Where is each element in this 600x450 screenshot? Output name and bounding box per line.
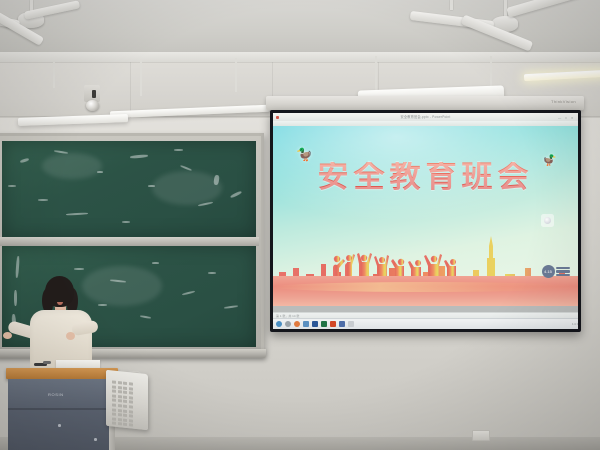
projector-screen[interactable]: 安全教育班会.pptx - PowerPoint — □ ✕ 🦆 🦆 安全教育班… [270,110,581,332]
window-controls[interactable]: — □ ✕ [558,116,575,120]
podium-control-console[interactable] [106,370,148,430]
security-camera-icon [86,100,99,111]
excel-icon[interactable] [321,321,327,327]
slide-title: 安全教育班会 [273,162,578,193]
word-icon[interactable] [312,321,318,327]
control-keypad[interactable] [112,380,133,427]
podium-knob[interactable] [58,424,61,427]
windows-taskbar[interactable]: 14:07 [273,318,578,329]
light-hanger [53,62,55,88]
screen-display[interactable]: 安全教育班会.pptx - PowerPoint — □ ✕ 🦆 🦆 安全教育班… [273,113,578,329]
podium-brand-label: ROSIN [48,392,64,397]
start-icon[interactable] [276,321,282,327]
classroom-scene: ThinkVision 安全教育班会.pptx - PowerPoint — □… [0,0,600,450]
light-hanger [235,58,237,92]
screen-brand-label: ThinkVision [551,99,576,104]
power-outlet [472,430,490,441]
explorer-icon[interactable] [303,321,309,327]
corner-tag-lines [556,267,570,277]
screen-housing: ThinkVision [266,96,584,110]
light-hanger [375,56,377,90]
paper-sheet[interactable] [56,360,100,368]
camera-lens [92,90,96,98]
slide-canvas[interactable]: 🦆 🦆 安全教育班会 [273,126,578,306]
podium-desktop [6,368,118,379]
slide-corner-tag: 4.15 [542,265,571,278]
desk-items [34,358,114,368]
ceiling-fan-left [0,0,100,60]
browser-icon[interactable] [294,321,300,327]
podium: ROSIN [6,368,124,450]
notepad-icon[interactable] [348,321,354,327]
ceiling-fan-right [420,0,600,70]
ground-highlight [273,282,578,292]
blackboard-panel-upper [2,141,256,237]
powerpoint-icon[interactable] [330,321,336,327]
dove-icon: 🦆 [296,146,315,163]
window-title: 安全教育班会.pptx - PowerPoint [401,114,451,119]
light-hanger [140,60,142,96]
blackboard-divider [0,237,259,246]
pdf-icon[interactable] [339,321,345,327]
camera-dot-icon [541,214,554,227]
hand-right [66,332,75,340]
slide-counter: 第 1 张，共 14 张 [276,314,299,318]
taskbar-clock[interactable]: 14:07 [572,322,578,326]
podium-knob[interactable] [94,438,97,441]
hand-left [3,332,12,339]
search-icon[interactable] [285,321,291,327]
remote-clicker[interactable] [43,361,51,364]
corner-tag-text: 4.15 [542,265,555,278]
powerpoint-app-icon [276,116,279,119]
